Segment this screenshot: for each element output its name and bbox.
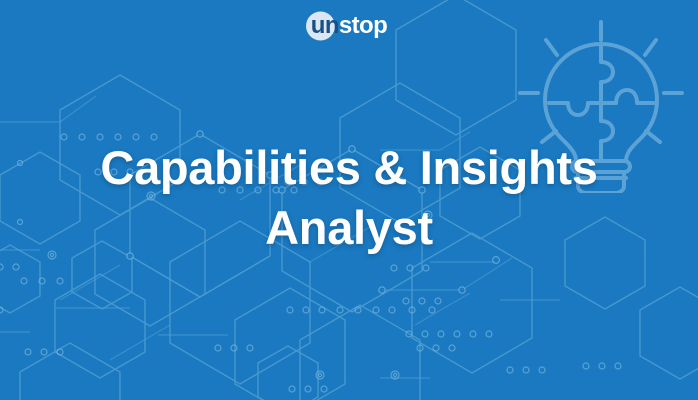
logo-text-stop: stop <box>339 14 387 38</box>
unstop-logo[interactable]: un stop <box>0 11 698 41</box>
page-title-line-1: Capabilities & Insights <box>40 138 658 198</box>
page-title-line-2: Analyst <box>40 198 658 258</box>
logo-wordmark: un stop <box>311 14 387 38</box>
logo-text-un: un <box>311 14 339 38</box>
page-title: Capabilities & Insights Analyst <box>0 138 698 258</box>
job-banner: un stop Capabilities & Insights Analyst <box>0 0 698 400</box>
